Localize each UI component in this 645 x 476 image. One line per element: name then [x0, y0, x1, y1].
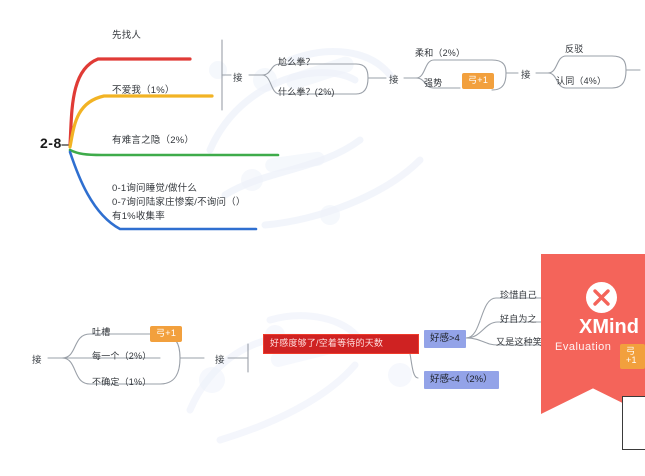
node-top-g2-item-1[interactable]: 柔和（2%）: [415, 48, 465, 60]
xmind-evaluation-watermark: XMind Evaluation: [541, 254, 645, 414]
node-top-g3-item-2[interactable]: 认同（4%）: [556, 76, 606, 88]
node-outcome-2[interactable]: 好自为之（2%）: [500, 314, 569, 326]
watermark-banner-shape: [541, 254, 645, 414]
note-red-favorability[interactable]: 好感度够了/空着等待的天数: [263, 334, 419, 354]
xmind-x-logo-icon: [586, 282, 617, 313]
condition-favorability-low[interactable]: 好感<4（2%）: [424, 371, 499, 389]
join-node-top-3[interactable]: 接: [521, 67, 531, 81]
node-outcome-3[interactable]: 又是这种笑（7%）: [496, 337, 574, 349]
node-top-g2-item-2[interactable]: 强势: [424, 78, 442, 90]
watermark-title: XMind: [579, 316, 639, 339]
node-bottom-g1-item-2[interactable]: 每一个（2%）: [92, 351, 151, 363]
root-node-label[interactable]: 2-8: [40, 135, 62, 151]
join-node-bottom-2[interactable]: 接: [215, 352, 225, 366]
node-top-branch-3[interactable]: 有难言之隐（2%）: [112, 135, 194, 148]
join-node-top-1[interactable]: 接: [233, 70, 243, 84]
node-outcome-1[interactable]: 珍惜自己（3%）: [500, 290, 569, 302]
node-top-g1-item-2[interactable]: 什么拳？(2%): [278, 87, 335, 99]
condition-favorability-high[interactable]: 好感>4: [424, 330, 466, 348]
connector-lines: [0, 0, 645, 476]
watermark-logo-circle: [586, 282, 617, 313]
mindmap-canvas[interactable]: 2-8 先找人 不爱我（1%） 有难言之隐（2%） 0-1询问睡觉/做什么 0-…: [0, 0, 645, 476]
node-top-branch-2[interactable]: 不爱我（1%）: [112, 85, 175, 98]
badge-bottom-bow-plus-one[interactable]: 弓+1: [150, 326, 182, 342]
node-top-branch-4[interactable]: 0-1询问睡觉/做什么 0-7询问陆家庄惨案/不询问（） 有1%收集率: [112, 182, 246, 223]
join-node-bottom-1[interactable]: 接: [32, 352, 42, 366]
badge-outcome-bow-plus-one[interactable]: 弓+1: [620, 344, 645, 369]
node-top-g1-item-1[interactable]: 尬么拳？: [278, 57, 315, 69]
node-bottom-g1-item-1[interactable]: 吐槽: [92, 327, 110, 339]
corner-frame-box[interactable]: [622, 396, 645, 450]
badge-top-bow-plus-one[interactable]: 弓+1: [462, 73, 494, 89]
node-top-branch-1[interactable]: 先找人: [112, 30, 141, 43]
node-top-g3-item-1[interactable]: 反驳: [565, 44, 583, 56]
join-node-top-2[interactable]: 接: [389, 72, 399, 86]
node-bottom-g1-item-3[interactable]: 不确定（1%）: [92, 377, 151, 389]
